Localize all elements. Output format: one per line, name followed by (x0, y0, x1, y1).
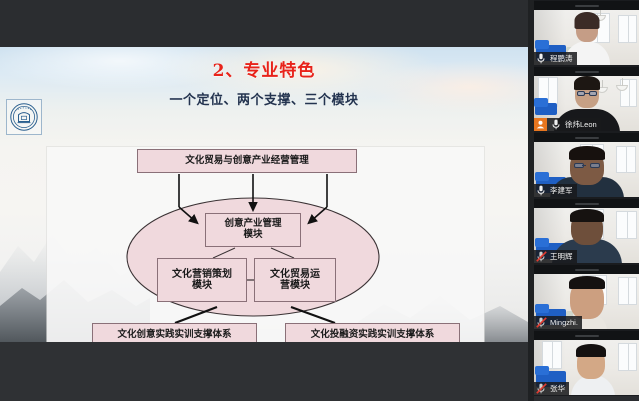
participant-name: 徐炜Leon (565, 118, 597, 131)
host-person-icon (534, 118, 547, 131)
participant-tile[interactable]: 王明辉 (534, 198, 639, 264)
participant-name-bar: 徐炜Leon (534, 118, 601, 131)
participant-name-bar: 王明辉 (534, 250, 577, 263)
mic-icon[interactable] (549, 118, 563, 131)
eyeglasses-icon (577, 91, 597, 96)
mic-muted-icon[interactable] (534, 382, 548, 395)
node-mid-line1: 创意产业管理 (224, 218, 281, 229)
mic-muted-icon[interactable] (534, 316, 548, 329)
letterbox-bottom (0, 342, 528, 401)
participant-video-strip[interactable]: 程鹏涛 (534, 0, 639, 401)
mic-icon[interactable] (534, 184, 548, 197)
participant-name: 李建军 (550, 184, 573, 197)
diagram-node-cultural-trade: 文化贸易运 营模块 (254, 258, 336, 302)
mic-icon[interactable] (534, 52, 548, 65)
participant-name-bar: 程鹏涛 (534, 52, 577, 65)
node-right-line1: 文化贸易运 (270, 269, 320, 280)
participant-name-bar: Mingzhi. (534, 316, 582, 329)
participant-name-bar: 李建军 (534, 184, 577, 197)
tile-top-bar (534, 265, 639, 274)
node-mid-line2: 模块 (243, 229, 262, 240)
node-right-line2: 营模块 (280, 280, 310, 291)
participant-name-bar: 张华 (534, 382, 569, 395)
program-structure-diagram: 文化贸易与创意产业经营管理 创意产业管理 模块 文化营销策划 模块 文化贸 (47, 147, 484, 342)
participant-name: 张华 (550, 382, 565, 395)
participant-tile[interactable]: 李建军 (534, 132, 639, 198)
letterbox-top (0, 0, 528, 47)
participant-tile[interactable]: 程鹏涛 (534, 0, 639, 66)
participant-name: 程鹏涛 (550, 52, 573, 65)
diagram-node-bottom-right: 文化投融资实践实训支撑体系 (285, 323, 460, 342)
diagram-node-cultural-marketing: 文化营销策划 模块 (157, 258, 247, 302)
meeting-window: 2、专业特色 一个定位、两个支撑、三个模块 (0, 0, 639, 401)
slide-title: 2、专业特色 (0, 56, 528, 81)
tile-top-bar (534, 1, 639, 10)
eyeglasses-icon (574, 163, 600, 168)
participant-name: Mingzhi. (550, 316, 578, 329)
presentation-slide: 2、专业特色 一个定位、两个支撑、三个模块 (0, 47, 528, 342)
slide-subtitle: 一个定位、两个支撑、三个模块 (0, 89, 528, 108)
node-left-line1: 文化营销策划 (172, 269, 232, 280)
participant-tile[interactable]: Mingzhi. (534, 264, 639, 330)
tile-top-bar (534, 199, 639, 208)
tile-top-bar (534, 331, 639, 340)
shared-screen-region[interactable]: 2、专业特色 一个定位、两个支撑、三个模块 (0, 0, 528, 401)
participant-name: 王明辉 (550, 250, 573, 263)
tile-top-bar (534, 133, 639, 142)
tile-top-bar (534, 67, 639, 76)
participant-tile[interactable]: 张华 (534, 330, 639, 396)
diagram-node-bottom-left: 文化创意实践实训支撑体系 (92, 323, 257, 342)
diagram-node-creative-industry-management: 创意产业管理 模块 (205, 213, 301, 247)
participant-tile[interactable]: 徐炜Leon (534, 66, 639, 132)
node-left-line2: 模块 (192, 280, 212, 291)
mic-muted-icon[interactable] (534, 250, 548, 263)
diagram-node-top: 文化贸易与创意产业经营管理 (137, 149, 357, 173)
